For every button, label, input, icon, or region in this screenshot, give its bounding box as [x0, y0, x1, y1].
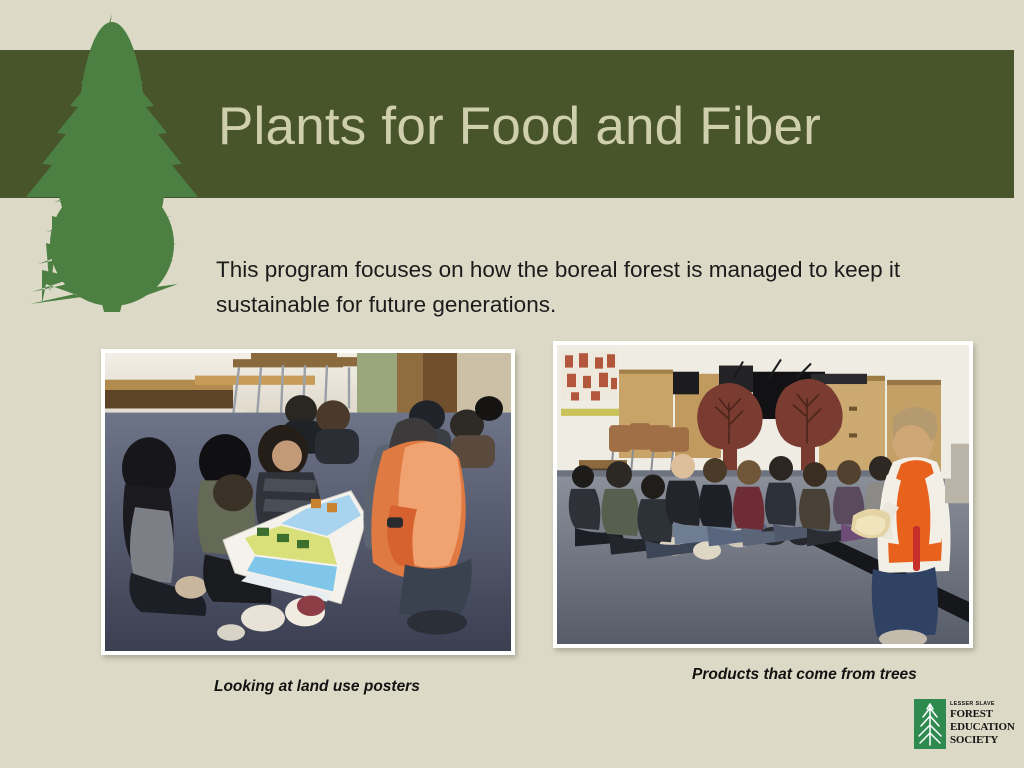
- photo-land-use-posters: [101, 349, 515, 655]
- page-title: Plants for Food and Fiber: [218, 92, 978, 162]
- photo-products-from-trees: [553, 341, 973, 648]
- photo-left-image: [105, 353, 511, 651]
- logo-wordmark: LESSER SLAVE FOREST EDUCATION SOCIETY: [950, 699, 1012, 749]
- slide-canvas: Plants for Food and Fiber This program f…: [0, 0, 1024, 768]
- caption-products-from-trees: Products that come from trees: [692, 666, 917, 684]
- caption-land-use-posters: Looking at land use posters: [214, 678, 420, 696]
- logo-tree-icon: [914, 699, 946, 749]
- logo-line-forest: FOREST: [950, 708, 1012, 721]
- photo-right-image: [557, 345, 969, 644]
- logo-line-lesser-slave: LESSER SLAVE: [950, 700, 1012, 708]
- logo-line-society: SOCIETY: [950, 734, 1012, 747]
- logo-line-education: EDUCATION: [950, 721, 1012, 734]
- conifer-tree-icon: [22, 12, 202, 314]
- lesser-slave-forest-education-society-logo: LESSER SLAVE FOREST EDUCATION SOCIETY: [914, 699, 1010, 751]
- body-paragraph: This program focuses on how the boreal f…: [216, 252, 946, 322]
